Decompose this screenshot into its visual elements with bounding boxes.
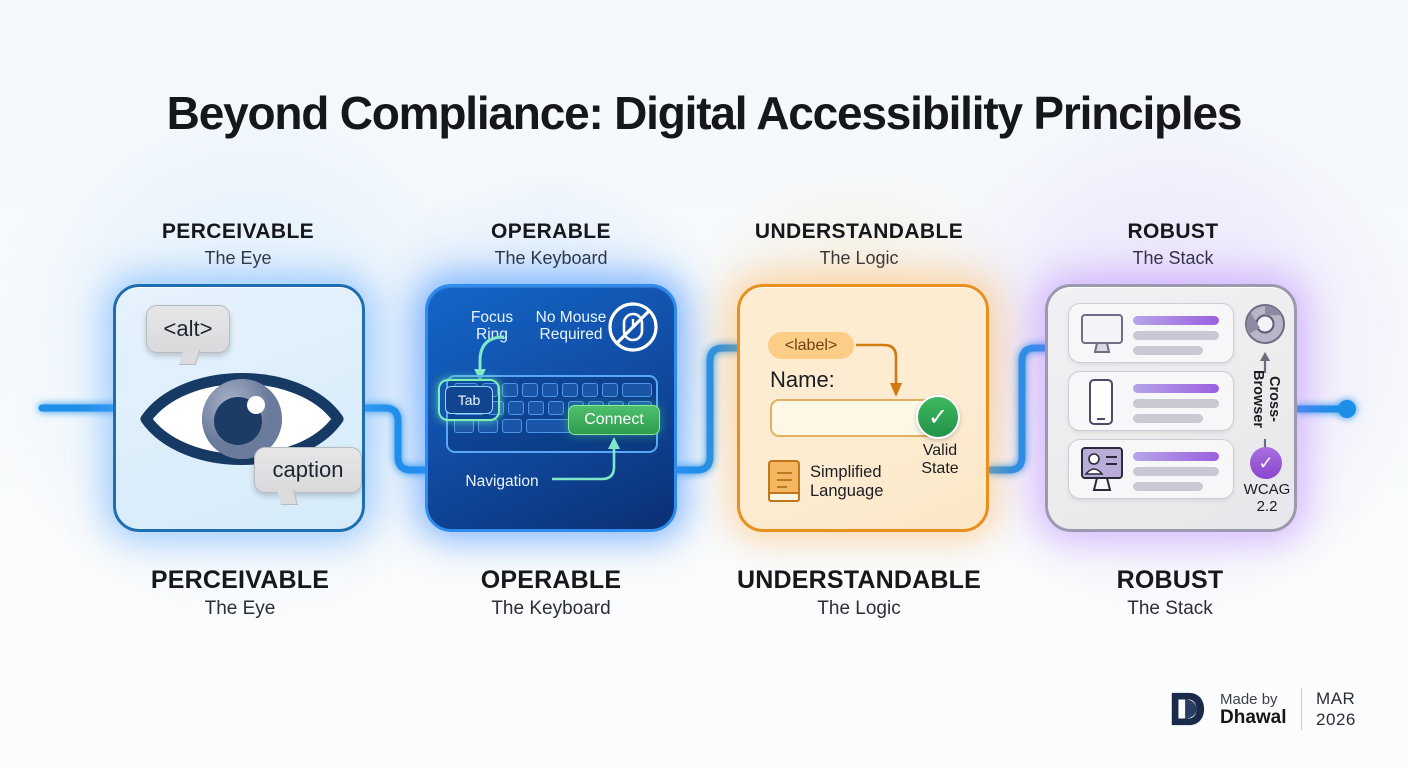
- author-name: Dhawal: [1220, 707, 1287, 728]
- footer-divider: [1301, 688, 1303, 730]
- wcag-badge-icon: ✓: [1250, 447, 1282, 479]
- navigation-arrow-icon: [548, 435, 628, 487]
- desktop-icon: [1079, 312, 1125, 356]
- bottom-subheading-understandable: The Logic: [729, 598, 989, 620]
- bottom-subheading-perceivable: The Eye: [110, 598, 370, 620]
- top-heading-perceivable: PERCEIVABLE: [108, 220, 368, 244]
- navigation-label: Navigation: [454, 473, 550, 490]
- bottom-caption-robust: ROBUST The Stack: [1040, 566, 1300, 620]
- top-caption-perceivable: PERCEIVABLE The Eye: [108, 220, 368, 269]
- device-row-mobile[interactable]: [1068, 371, 1234, 431]
- panel-perceivable[interactable]: <alt> caption: [113, 284, 365, 532]
- wcag-label: WCAG 2.2: [1238, 481, 1296, 515]
- flow-end-dot: [1338, 400, 1356, 418]
- footer-date: MAR 2026: [1316, 688, 1356, 730]
- top-subheading-robust: The Stack: [1043, 248, 1303, 269]
- bottom-subheading-robust: The Stack: [1040, 598, 1300, 620]
- bottom-caption-operable: OPERABLE The Keyboard: [421, 566, 681, 620]
- bottom-heading-perceivable: PERCEIVABLE: [110, 566, 370, 595]
- top-heading-understandable: UNDERSTANDABLE: [729, 220, 989, 244]
- top-subheading-understandable: The Logic: [729, 248, 989, 269]
- connect-button[interactable]: Connect: [568, 405, 660, 435]
- panel-understandable[interactable]: <label> Name: ✓ Valid State Simplified L…: [737, 284, 989, 532]
- alt-text-bubble: <alt>: [146, 305, 230, 353]
- top-heading-robust: ROBUST: [1043, 220, 1303, 244]
- made-by-block: Made by Dhawal: [1220, 691, 1287, 728]
- browser-icon: [1244, 303, 1286, 345]
- infographic-canvas: Beyond Compliance: Digital Accessibility…: [0, 0, 1408, 768]
- book-icon: [766, 459, 802, 505]
- label-tag-pill: <label>: [768, 332, 854, 359]
- screenreader-icon: [1079, 446, 1125, 494]
- footer-credit: Made by Dhawal MAR 2026: [1168, 688, 1356, 730]
- device-row-desktop[interactable]: [1068, 303, 1234, 363]
- panel-robust[interactable]: Cross-Browser ✓ WCAG 2.2: [1045, 284, 1297, 532]
- bottom-caption-understandable: UNDERSTANDABLE The Logic: [729, 566, 989, 620]
- no-mouse-label: No Mouse Required: [528, 309, 614, 343]
- bottom-caption-perceivable: PERCEIVABLE The Eye: [110, 566, 370, 620]
- valid-state-label: Valid State: [908, 442, 972, 478]
- brand-logo-icon: [1168, 690, 1206, 728]
- footer-date-month: MAR: [1316, 688, 1356, 709]
- device-row-screenreader[interactable]: [1068, 439, 1234, 499]
- top-subheading-perceivable: The Eye: [108, 248, 368, 269]
- tab-key[interactable]: Tab: [445, 386, 493, 414]
- top-caption-operable: OPERABLE The Keyboard: [421, 220, 681, 269]
- top-caption-robust: ROBUST The Stack: [1043, 220, 1303, 269]
- bottom-heading-understandable: UNDERSTANDABLE: [729, 566, 989, 595]
- bottom-heading-operable: OPERABLE: [421, 566, 681, 595]
- caption-bubble: caption: [254, 447, 362, 493]
- panel-operable[interactable]: Focus Ring No Mouse Required: [425, 284, 677, 532]
- name-field-label: Name:: [770, 367, 835, 393]
- label-arrow-icon: [854, 335, 910, 405]
- top-heading-operable: OPERABLE: [421, 220, 681, 244]
- footer-date-year: 2026: [1316, 709, 1356, 730]
- no-mouse-icon: [607, 301, 659, 353]
- bottom-subheading-operable: The Keyboard: [421, 598, 681, 620]
- top-subheading-operable: The Keyboard: [421, 248, 681, 269]
- page-title: Beyond Compliance: Digital Accessibility…: [0, 86, 1408, 140]
- cross-browser-indicator: Cross-Browser: [1244, 351, 1286, 461]
- simplified-language-label: Simplified Language: [810, 463, 883, 501]
- cross-browser-label: Cross-Browser: [1250, 353, 1282, 445]
- top-caption-understandable: UNDERSTANDABLE The Logic: [729, 220, 989, 269]
- mobile-icon: [1085, 378, 1117, 426]
- bottom-heading-robust: ROBUST: [1040, 566, 1300, 595]
- valid-check-icon: ✓: [916, 395, 960, 439]
